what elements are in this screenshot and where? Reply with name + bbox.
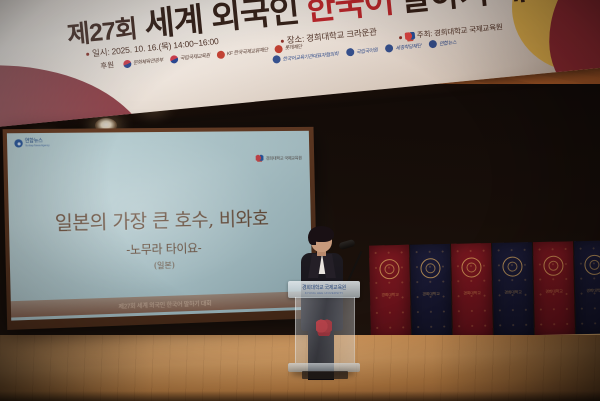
backdrop-panel: 경희대학교: [574, 240, 600, 339]
sponsor-logo: 문화체육관광부: [123, 56, 164, 68]
bullet-icon: [86, 53, 89, 56]
sponsor-name: 연합뉴스: [439, 38, 457, 47]
backdrop-panel: 경희대학교: [533, 241, 575, 340]
backdrop-panel-group: 경희대학교 경희대학교 경희대학교 경희대학교 경희대학교 경희대학교: [369, 240, 600, 343]
sponsor-logo: KF 한국국제교류재단: [217, 46, 269, 59]
panel-text: 경희대학교: [493, 289, 533, 296]
sponsor-name: 롯데재단: [284, 43, 302, 52]
slide-logo-left-text: 연합뉴스 Yonhap News Agency: [25, 139, 50, 148]
auditorium-stage-photo: 제27회세계 외국인한국어말하기 대회 일시: 2025. 10. 16.(목)…: [0, 0, 600, 401]
sponsor-name: 문화체육관광부: [133, 56, 164, 66]
taegeuk-icon: [170, 55, 179, 64]
podium-plate-line2: KYUNG HEE UNIVERSITY: [288, 291, 360, 295]
sponsor-name: KF 한국국제교류재단: [227, 46, 269, 57]
yonhap-circle-icon: [14, 139, 23, 147]
sponsor-logo: 롯데재단: [274, 42, 302, 53]
panel-emblem-icon: [584, 255, 600, 275]
sponsor-logo: 연합뉴스: [429, 38, 457, 49]
podium: 경희대학교 국제교육원 KYUNG HEE UNIVERSITY: [288, 281, 360, 377]
slide-logo-left-sub: Yonhap News Agency: [25, 144, 50, 147]
bullet-icon: [399, 36, 402, 39]
khu-heart-icon: [256, 155, 264, 162]
backdrop-panel: 경희대학교: [492, 242, 534, 341]
slide-logo-yonhap: 연합뉴스 Yonhap News Agency: [14, 139, 49, 148]
sponsor-logo: 세종학당재단: [385, 41, 421, 52]
podium-emblem-icon: [316, 319, 332, 336]
projection-screen-frame: 연합뉴스 Yonhap News Agency 경희대학교 국제교육원 일본의 …: [3, 127, 318, 330]
podium-plate-line1: 경희대학교 국제교육원: [288, 284, 360, 291]
slide-logo-khu: 경희대학교 국제교육원: [256, 154, 302, 161]
panel-text: 경희대학교: [411, 291, 451, 298]
taegeuk-icon: [123, 59, 132, 68]
sponsor-name: 국립국제교육원: [180, 52, 211, 62]
sponsor-logo: 국립국제교육원: [170, 51, 211, 63]
khu-heart-icon: [405, 31, 416, 41]
slide-title: 일본의 가장 큰 호수, 비와호: [9, 203, 311, 237]
panel-text: 경희대학교: [534, 288, 574, 295]
org-icon: [346, 48, 355, 57]
banner-title-part1: 세계 외국인: [143, 0, 301, 43]
banner-host-text: 주최: 경희대학교 국제교육원: [416, 22, 503, 39]
sponsor-name: 세종학당재단: [395, 42, 421, 51]
support-label: 후원: [100, 59, 115, 71]
podium-name-plate: 경희대학교 국제교육원 KYUNG HEE UNIVERSITY: [288, 284, 360, 295]
slide-logo-right-text: 경희대학교 국제교육원: [266, 155, 302, 161]
backdrop-panel: 경희대학교: [410, 244, 452, 343]
slide-footer-text: 제27회 세계 외국인 한국어 말하기 대회: [118, 298, 211, 310]
sponsor-logo: 국립국어원: [346, 46, 378, 57]
org-icon: [385, 44, 394, 53]
panel-text: 경희대학교: [370, 292, 410, 299]
sponsor-name: 국립국어원: [356, 46, 378, 55]
podium-floor-mat: [302, 371, 348, 379]
speaker-hair-side: [308, 231, 316, 245]
backdrop-panel: 경희대학교: [451, 243, 493, 342]
panel-text: 경희대학교: [452, 290, 492, 297]
yonhap-icon: [429, 40, 438, 49]
backdrop-panel: 경희대학교: [369, 245, 411, 344]
kf-icon: [217, 50, 226, 59]
banner-title-part2: 한국어: [304, 0, 395, 27]
org-icon: [272, 55, 281, 64]
floor-front-shadow: [0, 391, 600, 401]
panel-text: 경희대학교: [575, 287, 600, 294]
lotte-icon: [274, 44, 283, 53]
projection-screen: 연합뉴스 Yonhap News Agency 경희대학교 국제교육원 일본의 …: [7, 131, 313, 321]
slide-footer-bar: 제27회 세계 외국인 한국어 말하기 대회: [11, 291, 313, 318]
